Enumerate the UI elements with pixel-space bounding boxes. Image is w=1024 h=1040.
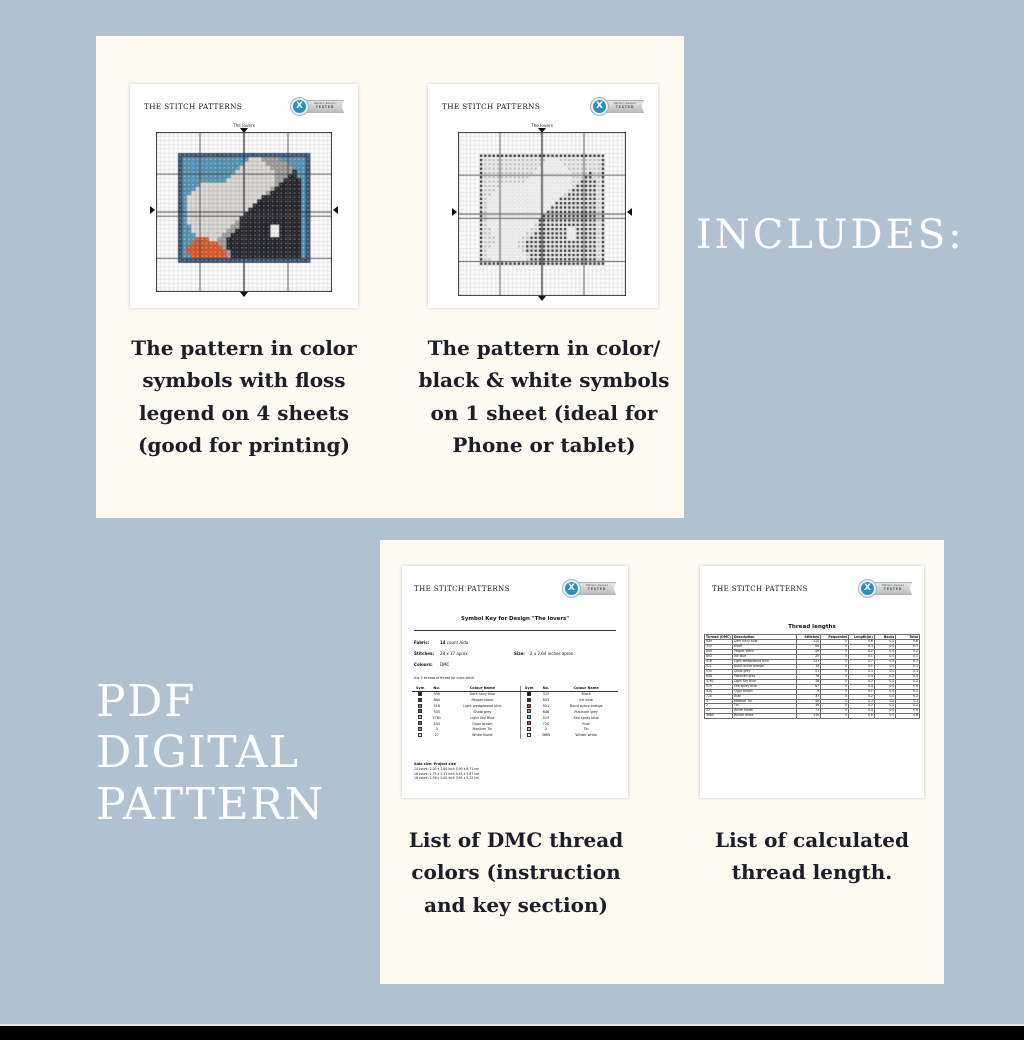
caption-dmc-list: List of DMC thread colors (instruction a…: [402, 824, 630, 921]
key-meta-row: Stitches:28 x 37 aproxSize:2 x 2.64 inch…: [414, 651, 573, 656]
pattern-keeper-badge: X Pattern Keeper TESTED: [591, 98, 644, 115]
symbol-key-table: SymNo.Colour NameSymNo.Colour Name 939Da…: [412, 686, 618, 739]
key-divider: [414, 630, 616, 631]
bw-stitch-grid: [458, 132, 626, 296]
badge-line2: TESTED: [314, 106, 336, 110]
badge-seal-icon: X: [859, 580, 876, 597]
caption-bw-chart: The pattern in color/ black & white symb…: [416, 332, 672, 462]
len-dmc-number: 3865: [705, 714, 733, 719]
marker-bottom-icon: [240, 292, 248, 297]
bottom-black-strip: [0, 1026, 1024, 1040]
sheet-header: THE STITCH PATTERNS X Pattern Keeper TES…: [428, 84, 658, 115]
color-stitch-grid: [156, 132, 332, 292]
marker-top-icon: [240, 128, 248, 133]
bw-chart-area: The lovers: [458, 132, 626, 296]
key-footer-title: Aida size: Project size: [414, 762, 456, 766]
marker-left-icon: [452, 208, 457, 216]
pattern-keeper-badge: X Pattern Keeper TESTED: [563, 580, 616, 597]
badge-ribbon: Pattern Keeper TESTED: [304, 100, 344, 113]
key-footer: Aida size: Project size 14 count: 2.00 x…: [414, 762, 479, 781]
sheet-thread-lengths[interactable]: THE STITCH PATTERNS X Pattern Keeper TES…: [700, 566, 924, 798]
color-chart-area: The lovers: [156, 132, 332, 292]
len-backs: 0.0: [874, 714, 896, 719]
table-row: 3865Winter white11000.60.00.6: [705, 714, 920, 719]
key-colour-name: White Violet: [445, 733, 520, 739]
badge-ribbon: Pattern Keeper TESTED: [604, 100, 644, 113]
brand-title: THE STITCH PATTERNS: [712, 585, 808, 593]
marker-left-icon: [150, 206, 155, 214]
key-footer-lines: 14 count: 2.00 x 2.64 inch 5.90 x 6.71 c…: [414, 767, 479, 781]
key-footer-line: 18 count: 1.56 x 2.00 inch 3.95 x 5.22 c…: [414, 776, 479, 781]
sheet-header: THE STITCH PATTERNS X Pattern Keeper TES…: [700, 566, 924, 597]
table-row: 27White Violet3865Winter white: [412, 733, 618, 739]
brand-title: THE STITCH PATTERNS: [442, 102, 540, 111]
key-colour-name: Winter white: [554, 733, 618, 739]
sheet-bw-chart[interactable]: THE STITCH PATTERNS X Pattern Keeper TES…: [428, 84, 658, 308]
sheet-header: THE STITCH PATTERNS X Pattern Keeper TES…: [402, 566, 628, 597]
badge-line2: TESTED: [614, 106, 636, 110]
badge-ribbon: Pattern Keeper TESTED: [576, 582, 616, 595]
sheet-symbol-key[interactable]: THE STITCH PATTERNS X Pattern Keeper TES…: [402, 566, 628, 798]
key-dmc-number: 3865: [538, 733, 555, 739]
marker-top-icon: [538, 128, 546, 133]
caption-thread-length: List of calculated thread length.: [692, 824, 932, 889]
thread-lengths-table: Thread (DMC)DescriptionStitchesPequenies…: [704, 634, 920, 719]
brand-title: THE STITCH PATTERNS: [144, 102, 242, 111]
key-meta-row: Colours:DMC: [414, 662, 514, 667]
key-symbol-swatch: [520, 733, 537, 739]
pattern-keeper-badge: X Pattern Keeper TESTED: [859, 580, 912, 597]
brand-title: THE STITCH PATTERNS: [414, 585, 510, 593]
marker-bottom-icon: [538, 296, 546, 301]
pdf-digital-pattern-heading: PDF DIGITAL PATTERN: [96, 676, 325, 830]
marker-right-icon: [333, 206, 338, 214]
poster-canvas: THE STITCH PATTERNS X Pattern Keeper TES…: [0, 0, 1024, 1040]
key-strands-note: Use 2 strands of thread for cross stitch: [414, 676, 474, 681]
pdf-line-3: PATTERN: [96, 779, 325, 830]
len-pequenies: 0: [821, 714, 849, 719]
badge-seal-icon: X: [591, 98, 608, 115]
badge-ribbon: Pattern Keeper TESTED: [872, 582, 912, 595]
thread-lengths-title: Thread lengths: [700, 624, 924, 630]
pdf-line-1: PDF: [96, 676, 325, 727]
badge-seal-icon: X: [563, 580, 580, 597]
len-length: 0.6: [849, 714, 875, 719]
symbol-key-title: Symbol Key for Design "The lovers": [402, 616, 628, 622]
pattern-keeper-badge: X Pattern Keeper TESTED: [291, 98, 344, 115]
caption-color-chart: The pattern in color symbols with floss …: [124, 332, 364, 462]
badge-line2: TESTED: [882, 588, 904, 592]
badge-line2: TESTED: [586, 588, 608, 592]
len-total: 0.6: [896, 714, 920, 719]
pdf-line-2: DIGITAL: [96, 727, 325, 778]
key-symbol-swatch: [412, 733, 428, 739]
sheet-header: THE STITCH PATTERNS X Pattern Keeper TES…: [130, 84, 358, 115]
marker-right-icon: [627, 208, 632, 216]
len-description: Winter white: [732, 714, 797, 719]
sheet-color-chart[interactable]: THE STITCH PATTERNS X Pattern Keeper TES…: [130, 84, 358, 308]
len-stitches: 110: [797, 714, 821, 719]
key-dmc-number: 27: [428, 733, 445, 739]
key-table-body: 939Dark navy blue310Black844Pepper black…: [412, 691, 618, 738]
key-meta-row: Fabric:14 count Aida: [414, 640, 514, 645]
includes-heading: INCLUDES:: [696, 212, 965, 258]
badge-seal-icon: X: [291, 98, 308, 115]
len-table-body: 939Dark navy blue12500.60.00.6310Black66…: [705, 640, 920, 719]
